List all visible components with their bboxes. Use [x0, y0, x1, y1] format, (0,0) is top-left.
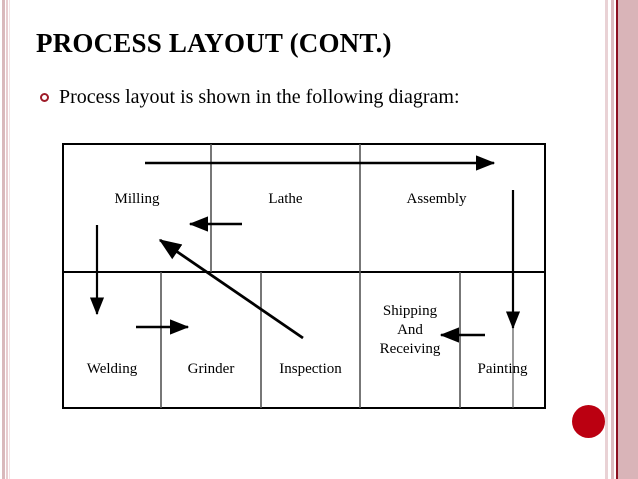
diagram-cell-painting: Painting [460, 360, 545, 379]
left-edge-stripe-2 [6, 0, 8, 479]
bullet-item-label: Process layout is shown in the following… [59, 86, 460, 109]
right-edge-band [618, 0, 638, 479]
diagram-cell-shipping-and-receiving: Shipping And Receiving [360, 302, 460, 359]
diagram-cell-inspection: Inspection [261, 360, 360, 379]
left-edge-stripe-1 [2, 0, 5, 479]
bullet-list-item: Process layout is shown in the following… [40, 86, 460, 109]
process-layout-diagram [0, 0, 638, 479]
red-dot-decoration [572, 405, 605, 438]
left-edge-stripe-3 [9, 0, 10, 479]
diagram-cell-assembly: Assembly [360, 190, 513, 209]
arrow-inspection-to-milling [160, 240, 303, 338]
diagram-cell-lathe: Lathe [211, 190, 360, 209]
diagram-cell-grinder: Grinder [161, 360, 261, 379]
page-title: PROCESS LAYOUT (CONT.) [36, 28, 392, 59]
diagram-cell-milling: Milling [63, 190, 211, 209]
diagram-cell-welding: Welding [63, 360, 161, 379]
hollow-circle-bullet-icon [40, 93, 49, 102]
slide-canvas: PROCESS LAYOUT (CONT.) Process layout is… [0, 0, 638, 479]
